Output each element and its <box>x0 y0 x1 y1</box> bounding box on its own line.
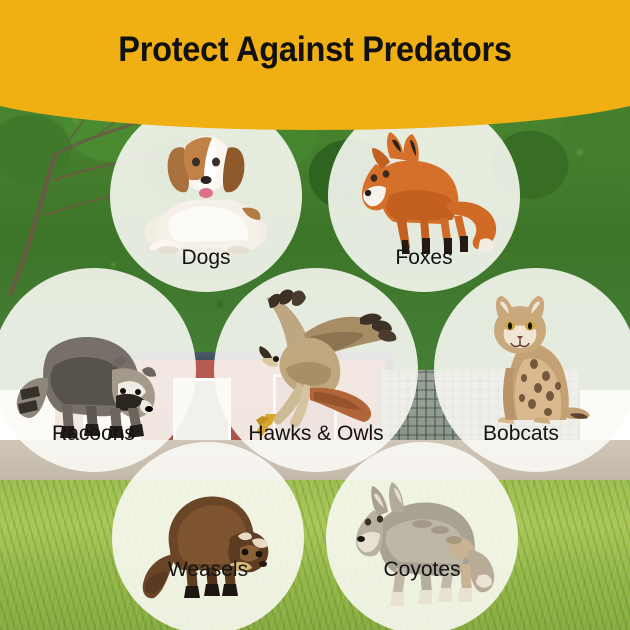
predator-label-foxes: Foxes <box>328 246 520 270</box>
predator-label-weasels: Weasels <box>112 558 304 582</box>
predator-label-dogs: Dogs <box>110 246 302 270</box>
lawn-grass <box>0 480 630 630</box>
predator-label-coyotes: Coyotes <box>326 558 518 582</box>
infographic-stage: Protect Against Predators <box>0 0 630 630</box>
weasel-icon <box>112 442 304 630</box>
page-title: Protect Against Predators <box>22 0 608 100</box>
predator-card-weasels[interactable]: Weasels <box>112 442 304 630</box>
coyote-icon <box>326 442 518 630</box>
predator-card-coyotes[interactable]: Coyotes <box>326 442 518 630</box>
